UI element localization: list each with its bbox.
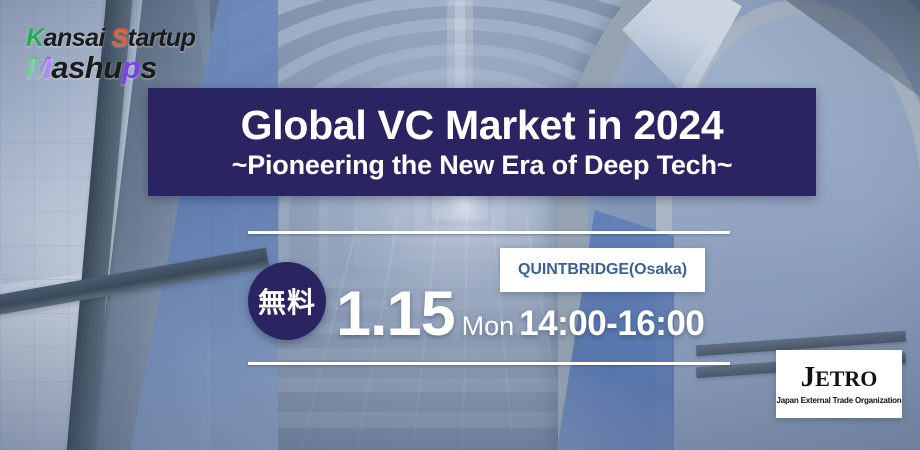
venue-label: QUINTBRIDGE(Osaka) <box>518 261 687 279</box>
logo-line-1: Kansai Startup <box>26 26 195 51</box>
logo-letter-s-final: s <box>140 50 157 85</box>
kansai-startup-mashups-logo: Kansai Startup Mashups <box>26 26 195 83</box>
logo-text-tartup: tartup <box>128 24 196 52</box>
divider-bottom <box>248 362 730 365</box>
event-banner: Kansai Startup Mashups Global VC Market … <box>0 0 920 450</box>
logo-letter-k: K <box>26 24 44 52</box>
free-admission-label: 無料 <box>258 281 316 321</box>
free-admission-badge: 無料 <box>248 262 326 340</box>
event-time-range: 14:00-16:00 <box>519 306 704 341</box>
logo-text-ashu: ashu <box>51 50 121 85</box>
event-title: Global VC Market in 2024 <box>241 104 724 147</box>
venue-badge: QUINTBRIDGE(Osaka) <box>500 248 705 292</box>
logo-letter-p: p <box>122 50 140 85</box>
logo-letter-s: S <box>111 24 127 52</box>
event-date: 1.15 <box>336 283 455 346</box>
jetro-initial: J <box>801 361 816 393</box>
jetro-wordmark: JETRO <box>801 363 878 392</box>
divider-top <box>248 231 730 234</box>
logo-line-2: Mashups <box>26 52 195 83</box>
event-day-of-week: Mon <box>462 313 515 340</box>
event-datetime: 1.15 Mon 14:00-16:00 <box>336 283 704 346</box>
title-banner: Global VC Market in 2024 ~Pioneering the… <box>148 88 816 196</box>
jetro-logo: JETRO Japan External Trade Organization <box>776 350 902 418</box>
jetro-tagline: Japan External Trade Organization <box>777 396 902 405</box>
logo-text-ansai: ansai <box>44 24 112 52</box>
logo-letter-m: M <box>26 50 51 85</box>
event-subtitle: ~Pioneering the New Era of Deep Tech~ <box>232 151 733 181</box>
jetro-name-rest: ETRO <box>815 366 877 391</box>
